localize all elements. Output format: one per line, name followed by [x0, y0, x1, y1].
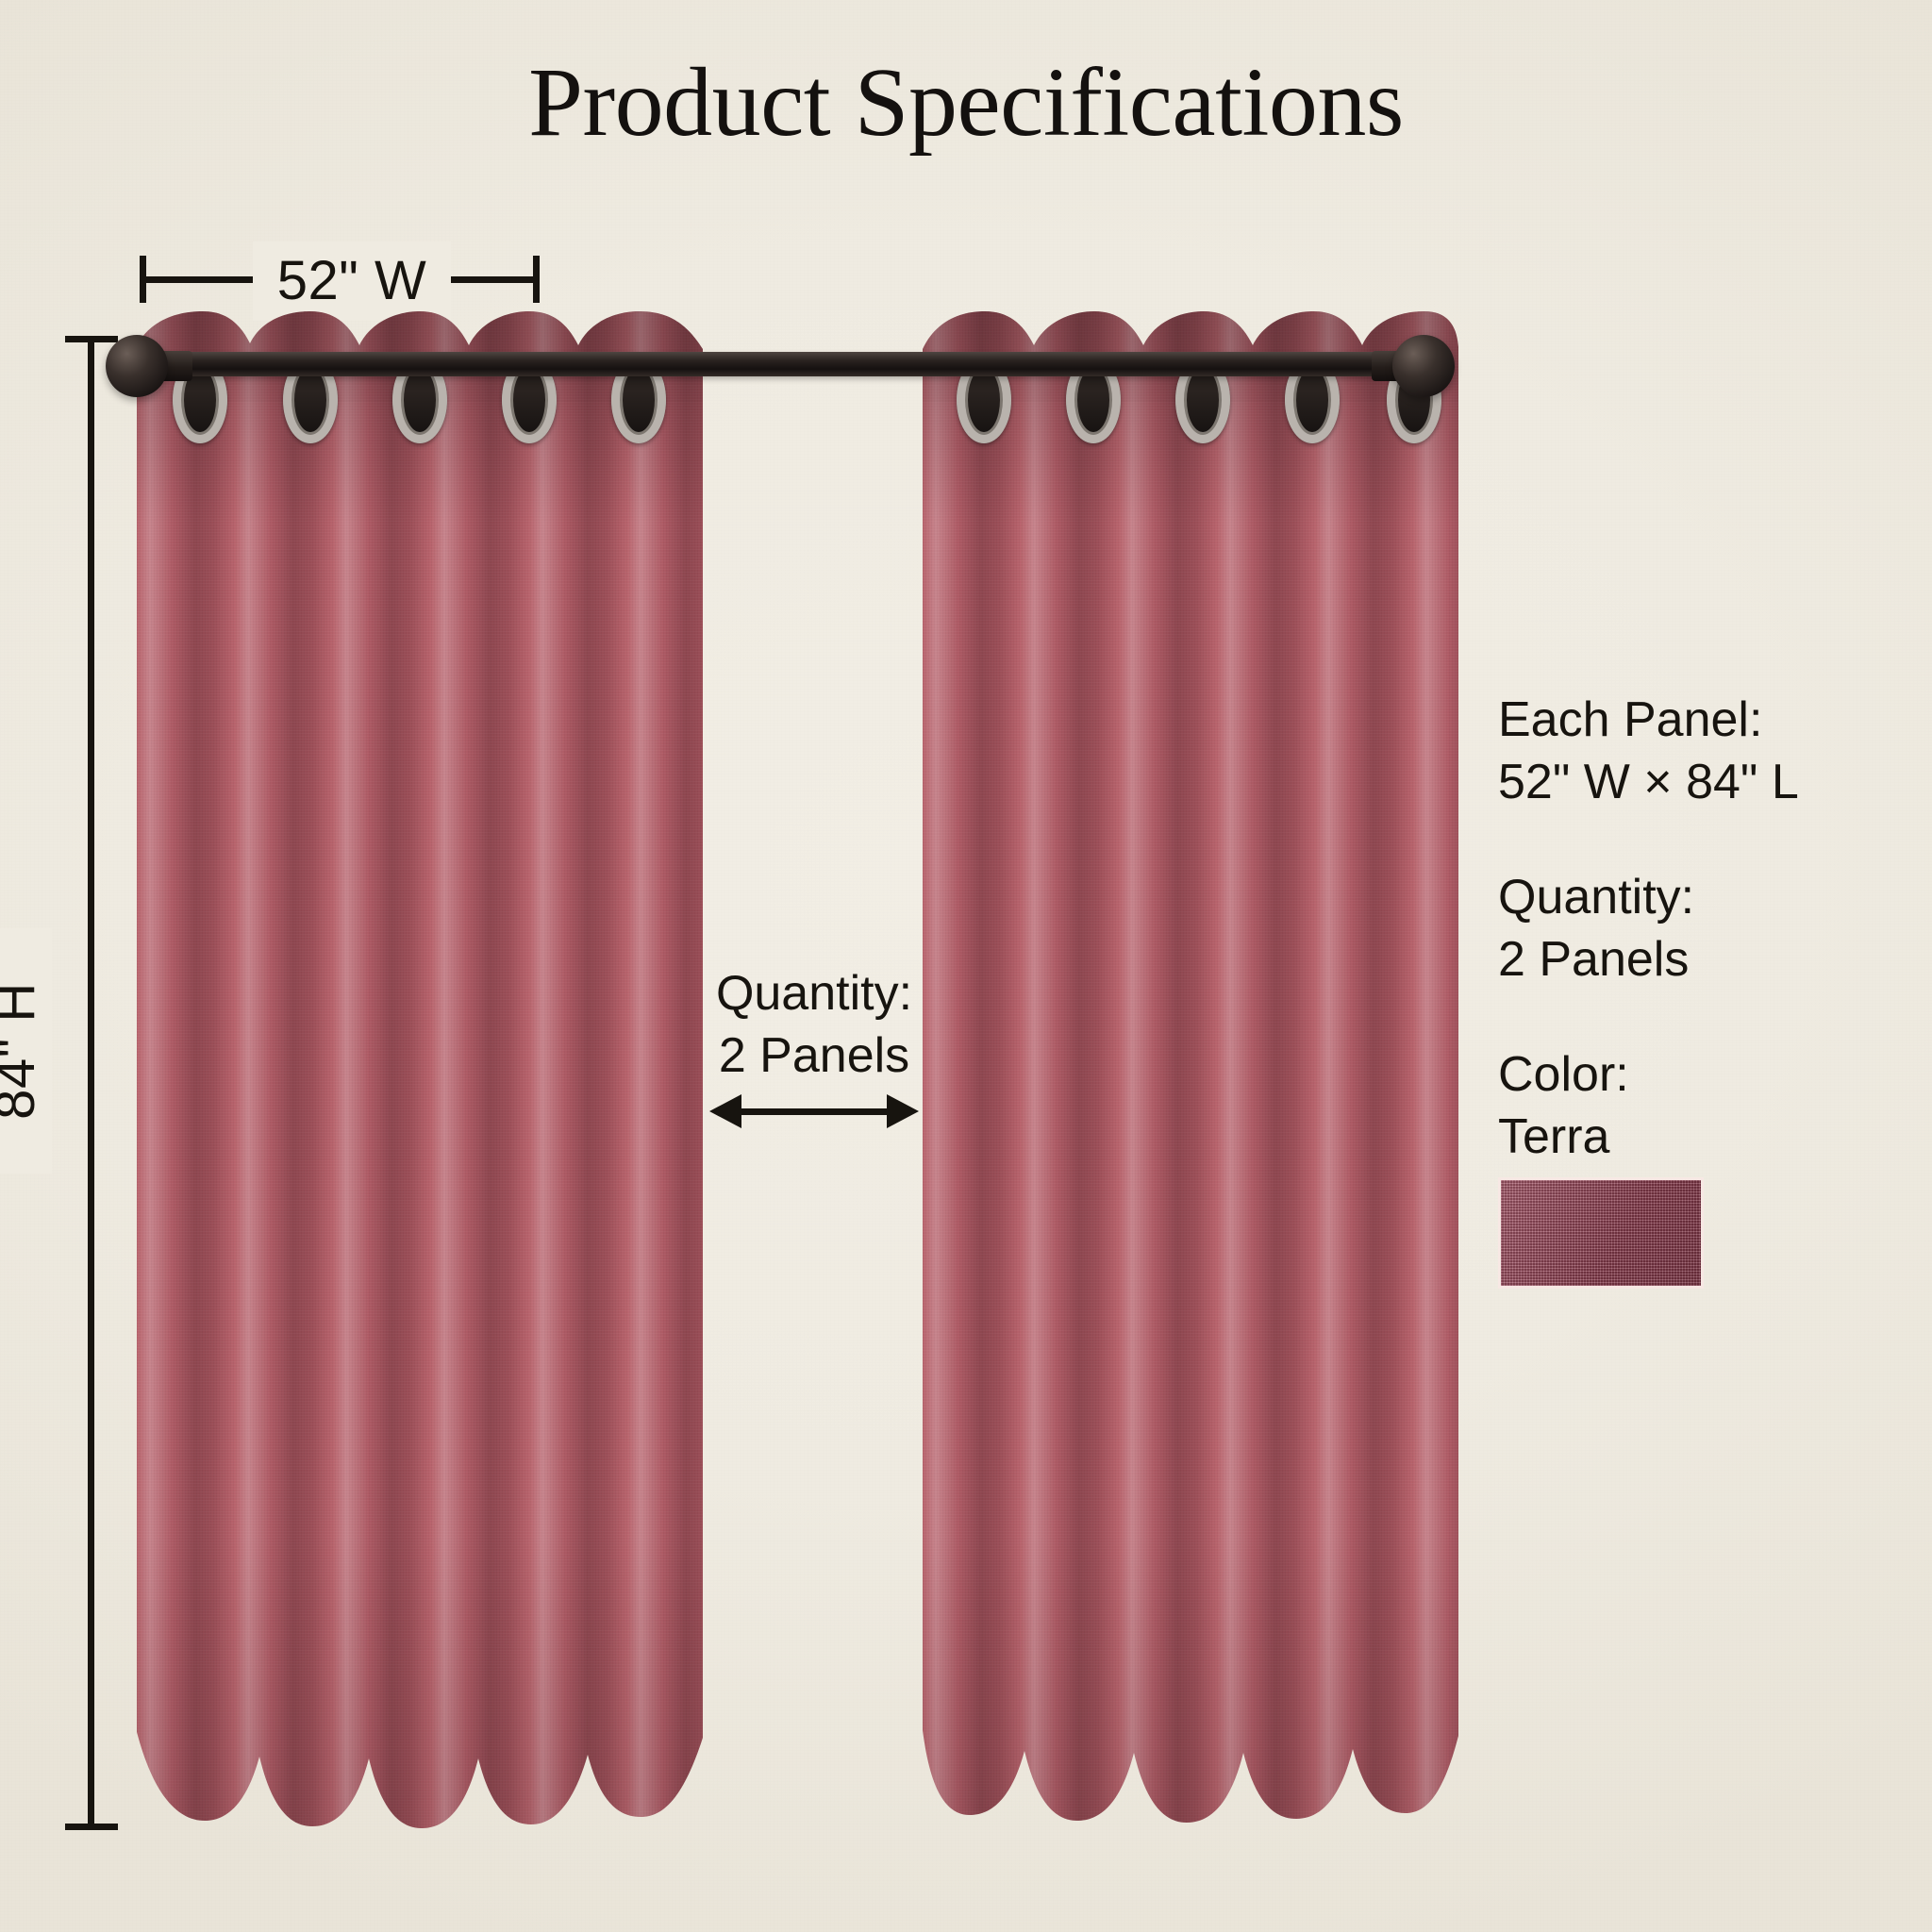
curtain-rod [106, 345, 1455, 383]
rod-finial-ball-right [1392, 335, 1455, 397]
rod-finial-right [1392, 335, 1458, 401]
center-quantity-value: 2 Panels [703, 1024, 925, 1087]
spec-color-label: Color: [1498, 1043, 1894, 1106]
spec-quantity: Quantity: 2 Panels [1498, 866, 1894, 991]
rod-finial-ball-left [106, 335, 168, 397]
spec-each-panel: Each Panel: 52" W × 84" L [1498, 689, 1894, 813]
rod-finial-left [106, 335, 172, 401]
page-title: Product Specifications [0, 49, 1932, 157]
height-dimension-cap-bottom [65, 1824, 118, 1830]
width-dimension-cap-left [140, 256, 146, 303]
width-dimension-cap-right [533, 256, 540, 303]
arrow-head-right [887, 1094, 919, 1128]
height-dimension: 84" H [88, 336, 95, 1830]
swatch-sheen [1501, 1180, 1701, 1286]
spec-color-value: Terra [1498, 1106, 1894, 1168]
curtain-rod-bar [130, 352, 1432, 376]
height-dimension-line [88, 336, 94, 1830]
height-dimension-label: 84" H [0, 928, 52, 1174]
spec-each-panel-value: 52" W × 84" L [1498, 751, 1894, 813]
spec-quantity-value: 2 Panels [1498, 928, 1894, 991]
double-headed-arrow-icon [709, 1094, 919, 1128]
center-quantity-label: Quantity: [703, 962, 925, 1024]
center-quantity-annotation: Quantity: 2 Panels [703, 962, 925, 1087]
spec-diagram-canvas: Product Specifications 52" W 84" H [0, 0, 1932, 1932]
width-dimension: 52" W [140, 250, 540, 307]
width-dimension-label: 52" W [253, 241, 451, 321]
curtain-panel-right [923, 311, 1458, 1835]
spec-quantity-label: Quantity: [1498, 866, 1894, 928]
specification-list: Each Panel: 52" W × 84" L Quantity: 2 Pa… [1498, 689, 1894, 1341]
arrow-shaft [730, 1108, 898, 1115]
spec-each-panel-label: Each Panel: [1498, 689, 1894, 751]
color-swatch [1498, 1177, 1704, 1289]
spec-color: Color: Terra [1498, 1043, 1894, 1289]
curtain-panel-left [137, 311, 703, 1835]
